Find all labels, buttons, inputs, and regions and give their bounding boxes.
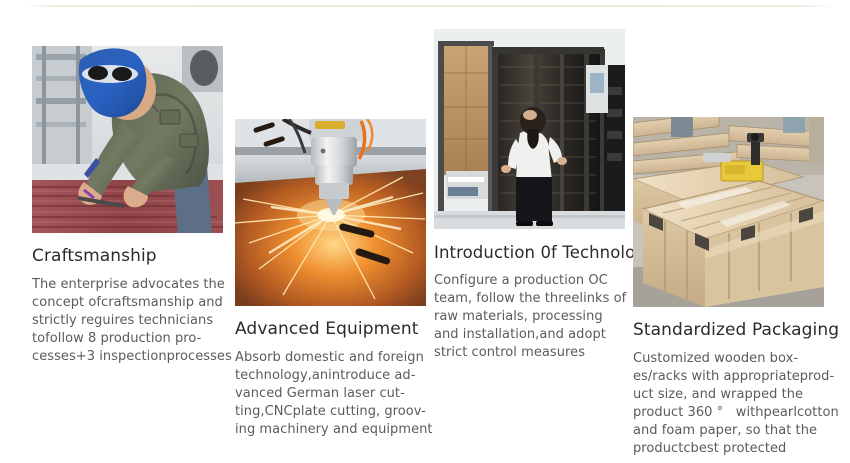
body-line: ting,CNCplate cutting, groov- bbox=[235, 403, 431, 421]
craftsmanship-photo bbox=[32, 46, 223, 233]
body-line: cesses+3 inspectionprocesses bbox=[32, 348, 228, 366]
card-body: Absorb domestic and foreign technology,a… bbox=[235, 349, 431, 439]
wooden-crates-image bbox=[633, 117, 824, 307]
card-body: The enterprise advocates the concept ofc… bbox=[32, 276, 228, 366]
body-line: tofollow 8 production pro- bbox=[32, 330, 228, 348]
body-line: Absorb domestic and foreign bbox=[235, 349, 431, 367]
body-line: productcbest protected bbox=[633, 440, 829, 458]
card-title: Advanced Equipment bbox=[235, 319, 427, 340]
body-line: es/racks with appropriateprod- bbox=[633, 368, 829, 386]
card-body: Customized wooden box- es/racks with app… bbox=[633, 350, 829, 458]
body-line: uct size, and wrapped the bbox=[633, 386, 829, 404]
body-line: The enterprise advocates the bbox=[32, 276, 228, 294]
body-line: and foam paper, so that the bbox=[633, 422, 829, 440]
card-title: Introduction 0f Technology bbox=[434, 242, 626, 263]
body-line: vanced German laser cut- bbox=[235, 385, 431, 403]
technology-photo bbox=[434, 29, 625, 229]
capability-card-standardized-packaging: Standardized Packaging Customized wooden… bbox=[633, 117, 825, 458]
worker-welding-mask-image bbox=[32, 46, 223, 233]
laser-cutting-sparks-image bbox=[235, 119, 426, 306]
card-title: Craftsmanship bbox=[32, 246, 224, 267]
capability-card-advanced-equipment: Advanced Equipment Absorb domestic and f… bbox=[235, 119, 427, 439]
packaging-photo bbox=[633, 117, 824, 307]
capability-card-craftsmanship: Craftsmanship The enterprise advocates t… bbox=[32, 46, 224, 366]
body-line: Configure a production OC bbox=[434, 272, 630, 290]
body-line: technology,anintroduce ad- bbox=[235, 367, 431, 385]
body-line: concept ofcraftsmanship and bbox=[32, 294, 228, 312]
body-line: strict control measures bbox=[434, 344, 630, 362]
body-line: product 360 ° withpearlcotton bbox=[633, 404, 829, 422]
capability-card-board: Craftsmanship The enterprise advocates t… bbox=[0, 0, 850, 463]
card-body: Configure a production OC team, follow t… bbox=[434, 272, 630, 362]
body-line: strictly reguires technicians bbox=[32, 312, 228, 330]
technician-inspecting-doors-image bbox=[434, 29, 625, 229]
card-title: Standardized Packaging bbox=[633, 320, 825, 341]
body-line: Customized wooden box- bbox=[633, 350, 829, 368]
body-line: ing machinery and equipment bbox=[235, 421, 431, 439]
body-line: and installation,and adopt bbox=[434, 326, 630, 344]
body-line: team, follow the threelinks of bbox=[434, 290, 630, 308]
body-line: raw materials, processing bbox=[434, 308, 630, 326]
capability-card-introduction-of-technology: Introduction 0f Technology Configure a p… bbox=[434, 29, 626, 362]
advanced-equipment-photo bbox=[235, 119, 426, 306]
